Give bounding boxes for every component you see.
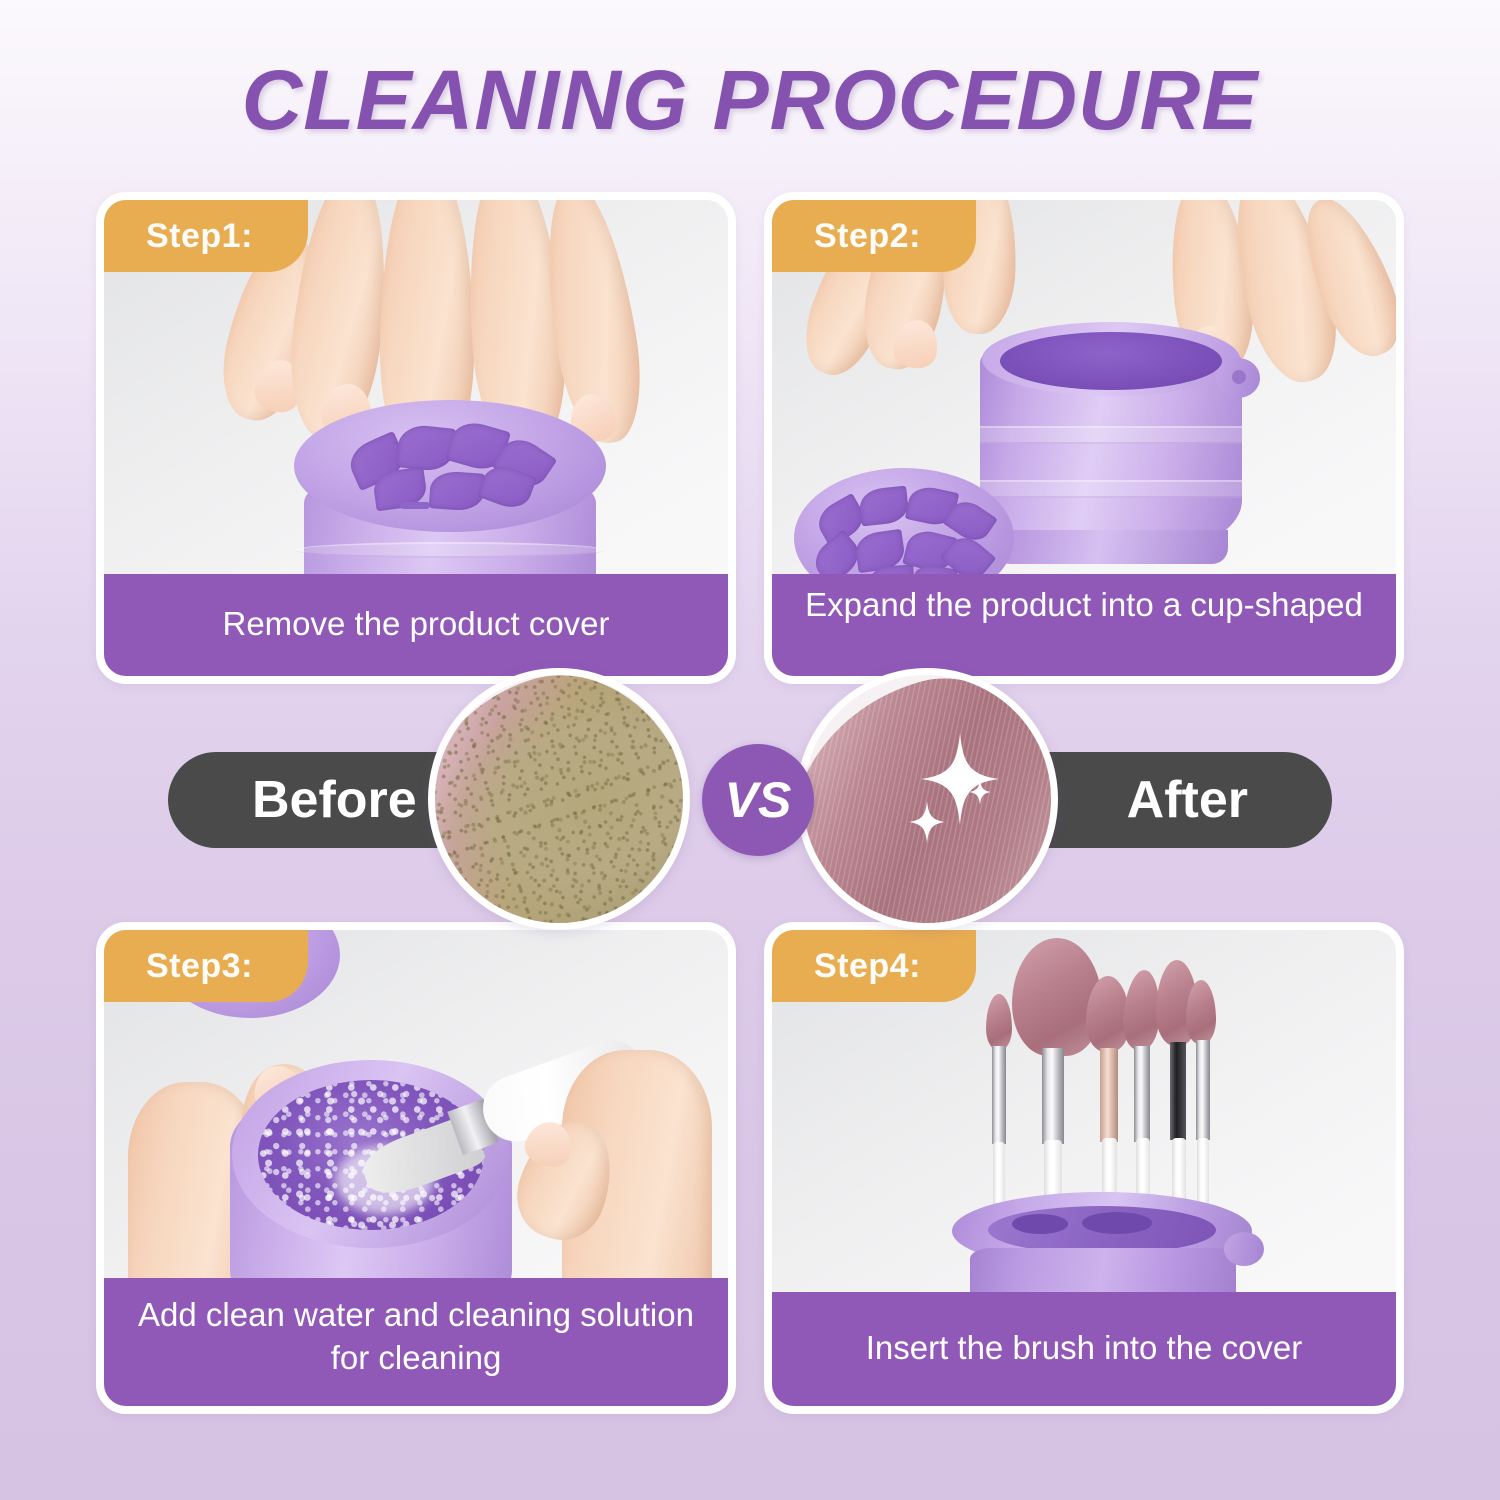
step-2-badge: Step2: [772, 200, 976, 272]
brush-set [980, 936, 1220, 1236]
step-4-badge: Step4: [772, 930, 976, 1002]
step-4-caption: Insert the brush into the cover [770, 1292, 1398, 1408]
sparkle-small-icon [969, 779, 991, 805]
cup-tab [1224, 1232, 1264, 1266]
step-card-4: Step4: Insert the brush into the cover [764, 922, 1404, 1414]
after-label: After [1127, 770, 1248, 830]
dirty-brush [428, 668, 690, 930]
step-1-badge: Step1: [104, 200, 308, 272]
before-label: Before [252, 770, 417, 830]
step-1-caption: Remove the product cover [102, 574, 730, 678]
page-title: CLEANING PROCEDURE [0, 52, 1500, 149]
vs-badge: VS [702, 744, 814, 856]
before-after-comparison: Before After VS [0, 700, 1500, 900]
step-3-badge: Step3: [104, 930, 308, 1002]
step-2-caption: Expand the product into a cup-shaped [770, 574, 1398, 678]
sparkle-medium-icon [909, 801, 945, 843]
before-photo [428, 668, 690, 930]
step-3-caption: Add clean water and cleaning solution fo… [102, 1278, 730, 1408]
expanded-cup [980, 230, 1242, 570]
step-card-2: Step2: Expand the product into a cup-sha… [764, 192, 1404, 684]
step-card-1: Step1: Remove the product cover [96, 192, 736, 684]
step-card-3: Step3: Add clean water and cleaning solu… [96, 922, 736, 1414]
after-photo [796, 668, 1058, 930]
powder-residue [428, 668, 690, 930]
